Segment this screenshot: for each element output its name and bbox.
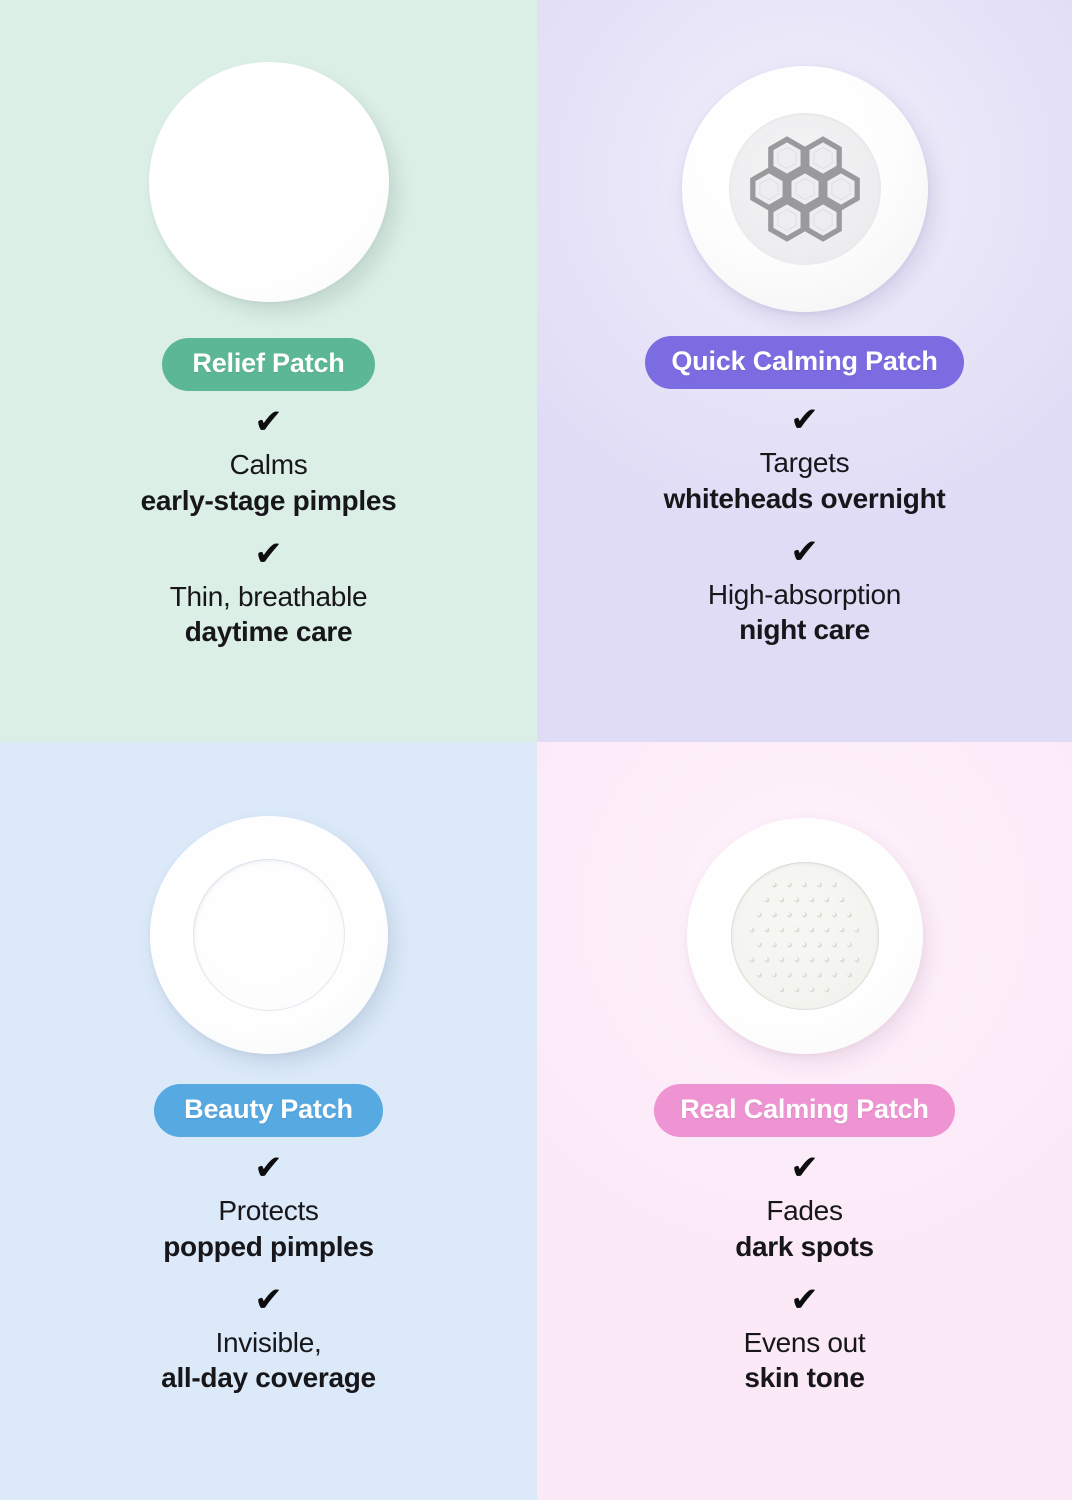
feature-line-bold: whiteheads overnight bbox=[664, 481, 946, 517]
feature-line-bold: skin tone bbox=[744, 1360, 864, 1396]
feature-item: ✔ Evens out skin tone bbox=[744, 1283, 866, 1397]
feature-line-light: High-absorption bbox=[708, 577, 901, 613]
feature-item: ✔ Targets whiteheads overnight bbox=[664, 403, 946, 517]
check-icon: ✔ bbox=[254, 1151, 283, 1185]
product-badge-beauty-patch: Beauty Patch bbox=[154, 1084, 383, 1137]
product-card-real-calming-patch[interactable]: Real Calming Patch ✔ Fades dark spots ✔ … bbox=[537, 742, 1072, 1500]
product-image-relief-patch bbox=[149, 48, 389, 316]
product-comparison-grid: Relief Patch ✔ Calms early-stage pimples… bbox=[0, 0, 1072, 1500]
feature-line-light: Evens out bbox=[744, 1325, 866, 1361]
product-badge-relief-patch: Relief Patch bbox=[162, 338, 374, 391]
feature-line-light: Thin, breathable bbox=[170, 579, 368, 615]
badge-label: Relief Patch bbox=[192, 350, 344, 377]
check-icon: ✔ bbox=[254, 1283, 283, 1317]
check-icon: ✔ bbox=[790, 535, 819, 569]
feature-line-bold: all-day coverage bbox=[161, 1360, 376, 1396]
feature-item: ✔ Calms early-stage pimples bbox=[141, 405, 397, 519]
flat-rimmed-disc-patch-icon bbox=[150, 816, 388, 1054]
product-image-beauty-patch bbox=[150, 810, 388, 1060]
feature-line-light: Targets bbox=[760, 445, 850, 481]
honeycomb-cluster-icon bbox=[746, 133, 864, 245]
check-icon: ✔ bbox=[254, 405, 283, 439]
microneedle-dotted-patch-icon bbox=[687, 818, 923, 1054]
product-card-beauty-patch[interactable]: Beauty Patch ✔ Protects popped pimples ✔… bbox=[0, 742, 537, 1500]
badge-label: Quick Calming Patch bbox=[671, 348, 937, 375]
feature-line-bold: early-stage pimples bbox=[141, 483, 397, 519]
patch-inner-area bbox=[729, 113, 881, 265]
feature-line-bold: daytime care bbox=[185, 614, 353, 650]
feature-line-bold: dark spots bbox=[735, 1229, 874, 1265]
patch-inner-ring bbox=[193, 859, 345, 1011]
badge-label: Real Calming Patch bbox=[680, 1096, 928, 1123]
product-card-relief-patch[interactable]: Relief Patch ✔ Calms early-stage pimples… bbox=[0, 0, 537, 742]
feature-line-light: Fades bbox=[766, 1193, 842, 1229]
plain-round-patch-icon bbox=[149, 62, 389, 302]
check-icon: ✔ bbox=[790, 1283, 819, 1317]
feature-line-light: Calms bbox=[230, 447, 308, 483]
feature-list-real-calming-patch: ✔ Fades dark spots ✔ Evens out skin tone bbox=[537, 1151, 1072, 1396]
badge-label: Beauty Patch bbox=[184, 1096, 353, 1123]
feature-list-quick-calming-patch: ✔ Targets whiteheads overnight ✔ High-ab… bbox=[537, 403, 1072, 648]
honeycomb-microdart-patch-icon bbox=[682, 66, 928, 312]
check-icon: ✔ bbox=[790, 1151, 819, 1185]
product-card-quick-calming-patch[interactable]: Quick Calming Patch ✔ Targets whiteheads… bbox=[537, 0, 1072, 742]
feature-list-beauty-patch: ✔ Protects popped pimples ✔ Invisible, a… bbox=[0, 1151, 537, 1396]
check-icon: ✔ bbox=[254, 537, 283, 571]
product-badge-quick-calming-patch: Quick Calming Patch bbox=[645, 336, 963, 389]
feature-line-bold: popped pimples bbox=[163, 1229, 373, 1265]
check-icon: ✔ bbox=[790, 403, 819, 437]
feature-list-relief-patch: ✔ Calms early-stage pimples ✔ Thin, brea… bbox=[0, 405, 537, 650]
feature-item: ✔ Protects popped pimples bbox=[163, 1151, 373, 1265]
feature-item: ✔ High-absorption night care bbox=[708, 535, 901, 649]
feature-item: ✔ Thin, breathable daytime care bbox=[170, 537, 368, 651]
feature-line-bold: night care bbox=[739, 612, 870, 648]
feature-item: ✔ Fades dark spots bbox=[735, 1151, 874, 1265]
product-image-real-calming-patch bbox=[687, 812, 923, 1060]
product-image-quick-calming-patch bbox=[682, 62, 928, 316]
feature-line-light: Protects bbox=[218, 1193, 318, 1229]
microneedle-dot-pattern-icon bbox=[731, 862, 879, 1010]
product-badge-real-calming-patch: Real Calming Patch bbox=[654, 1084, 954, 1137]
feature-line-light: Invisible, bbox=[216, 1325, 322, 1361]
patch-inner-area bbox=[731, 862, 879, 1010]
feature-item: ✔ Invisible, all-day coverage bbox=[161, 1283, 376, 1397]
